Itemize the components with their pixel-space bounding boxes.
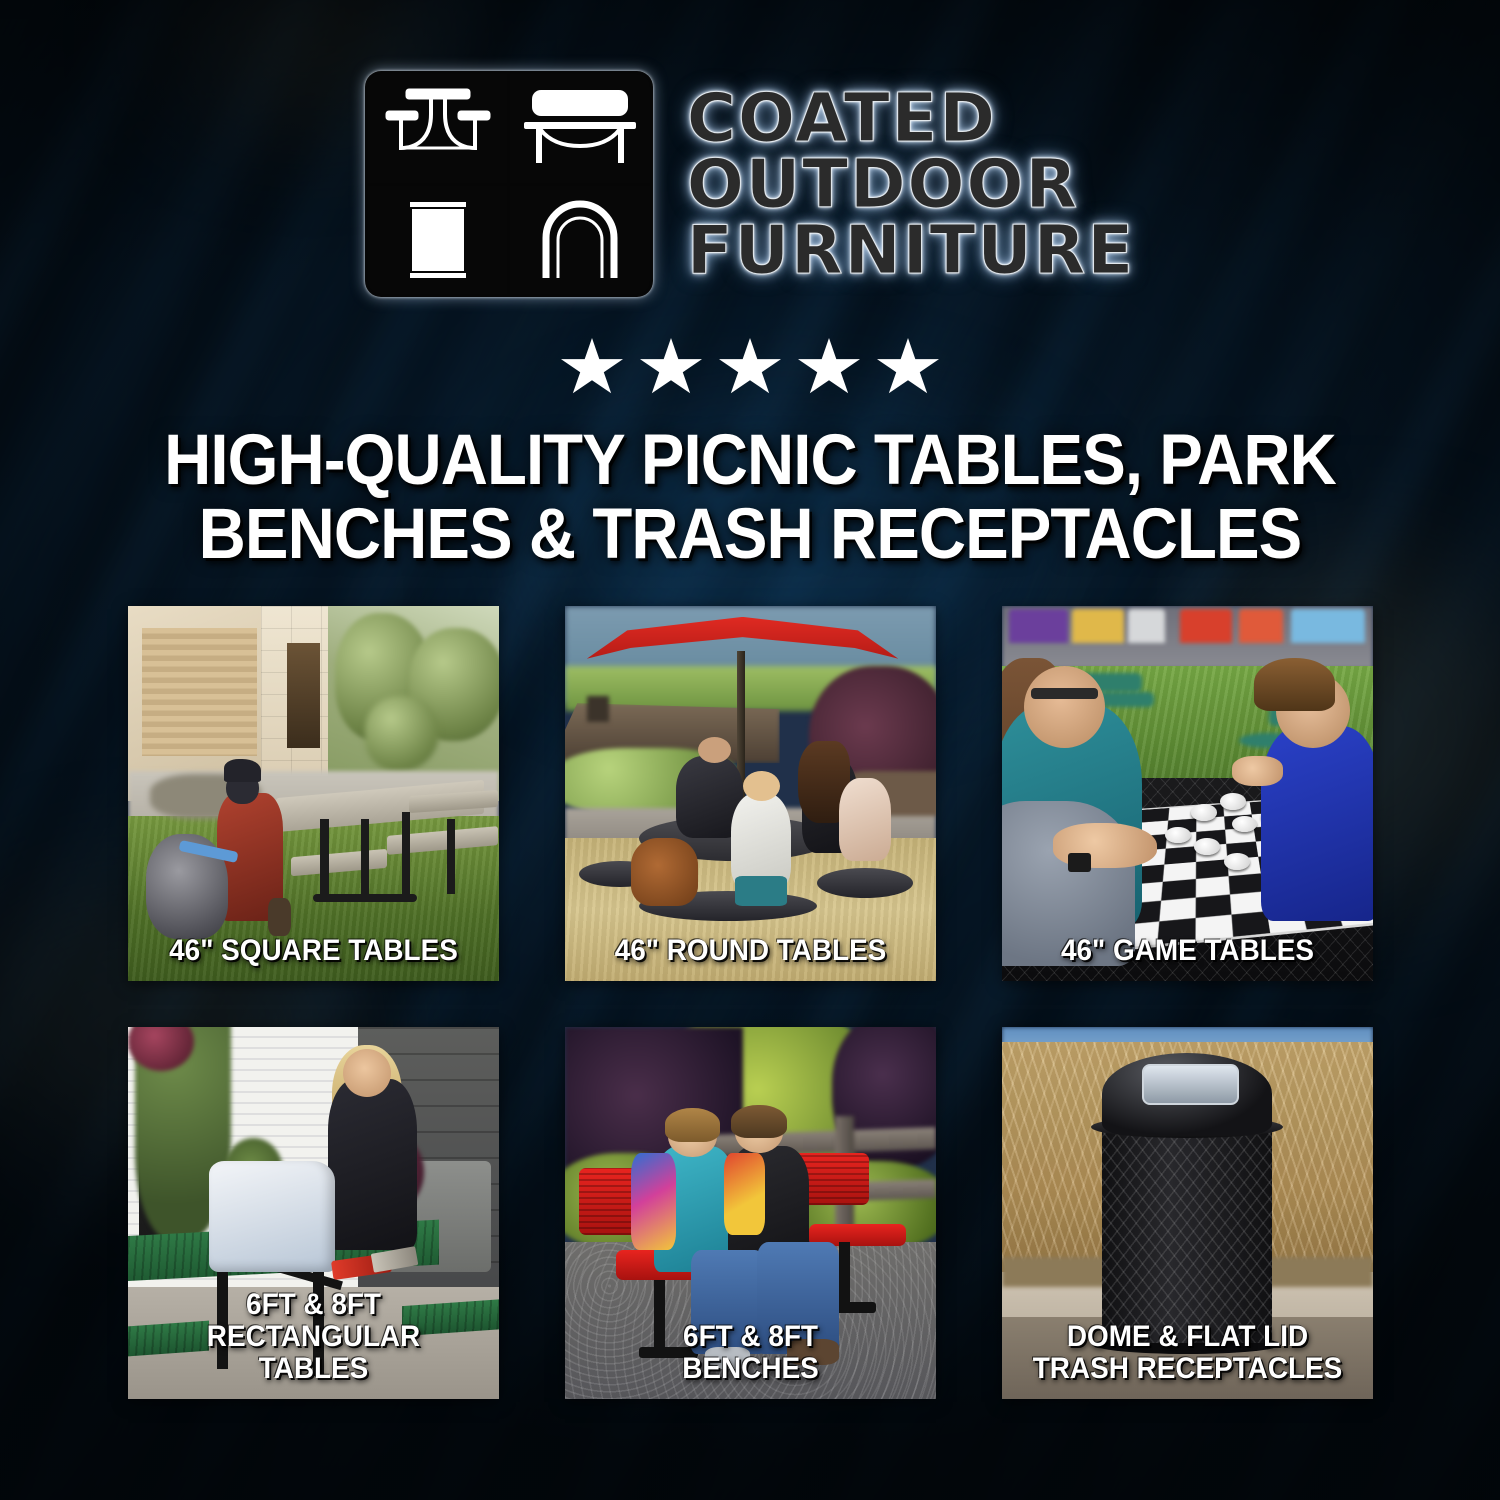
product-tile-game-tables[interactable]: 46" GAME TABLES <box>1002 606 1373 981</box>
star-icon <box>798 338 860 398</box>
product-tile-square-tables[interactable]: 46" SQUARE TABLES <box>128 606 499 981</box>
product-caption: 6FT & 8FT RECTANGULAR TABLES <box>140 1289 485 1384</box>
logo-icon-grid <box>365 71 653 297</box>
product-tile-rectangular-tables[interactable]: 6FT & 8FT RECTANGULAR TABLES <box>128 1027 499 1399</box>
caption-line-1: 6FT & 8FT <box>683 1320 818 1353</box>
brand-word-outdoor: OUTDOOR <box>687 152 1135 216</box>
caption-line-2: TRASH RECEPTACLES <box>1022 1353 1352 1385</box>
poster-root: COATED OUTDOOR FURNITURE HIGH-QUALITY PI… <box>0 0 1500 1500</box>
product-photo-game-tables <box>1002 606 1373 981</box>
product-photo-round-tables <box>565 606 936 981</box>
product-caption: 6FT & 8FT BENCHES <box>577 1321 922 1385</box>
product-caption: 46" ROUND TABLES <box>577 935 922 967</box>
caption-line-1: 46" ROUND TABLES <box>614 934 886 967</box>
product-tile-round-tables[interactable]: 46" ROUND TABLES <box>565 606 936 981</box>
caption-line-1: 46" GAME TABLES <box>1060 934 1313 967</box>
caption-line-1: 6FT & 8FT <box>246 1288 381 1321</box>
star-icon <box>640 338 702 398</box>
page-title: HIGH-QUALITY PICNIC TABLES, PARK BENCHES… <box>161 424 1339 572</box>
star-icon <box>877 338 939 398</box>
bench-icon <box>510 74 650 183</box>
caption-line-1: 46" SQUARE TABLES <box>169 934 458 967</box>
brand-wordmark: COATED OUTDOOR FURNITURE <box>687 86 1135 283</box>
headline-line-1: HIGH-QUALITY PICNIC TABLES, PARK <box>161 424 1339 498</box>
brand-word-coated: COATED <box>687 86 1135 150</box>
product-tile-benches[interactable]: 6FT & 8FT BENCHES <box>565 1027 936 1399</box>
product-caption: 46" GAME TABLES <box>1014 935 1359 967</box>
headline-line-2: BENCHES & TRASH RECEPTACLES <box>161 498 1339 572</box>
brand-logo: COATED OUTDOOR FURNITURE <box>365 66 1135 302</box>
product-photo-square-tables <box>128 606 499 981</box>
caption-line-2: RECTANGULAR TABLES <box>148 1321 478 1385</box>
picnic-table-icon <box>368 74 508 183</box>
star-icon <box>561 338 623 398</box>
product-caption: 46" SQUARE TABLES <box>140 935 485 967</box>
bike-rack-icon <box>510 186 650 295</box>
trash-receptacle-icon <box>368 186 508 295</box>
product-caption: DOME & FLAT LID TRASH RECEPTACLES <box>1014 1321 1359 1385</box>
brand-word-furniture: FURNITURE <box>687 218 1135 282</box>
caption-line-1: DOME & FLAT LID <box>1066 1320 1307 1353</box>
caption-line-2: BENCHES <box>585 1353 915 1385</box>
product-tile-trash-receptacles[interactable]: DOME & FLAT LID TRASH RECEPTACLES <box>1002 1027 1373 1399</box>
star-rating <box>561 338 939 398</box>
product-grid: 46" SQUARE TABLES <box>128 606 1373 1399</box>
star-icon <box>719 338 781 398</box>
